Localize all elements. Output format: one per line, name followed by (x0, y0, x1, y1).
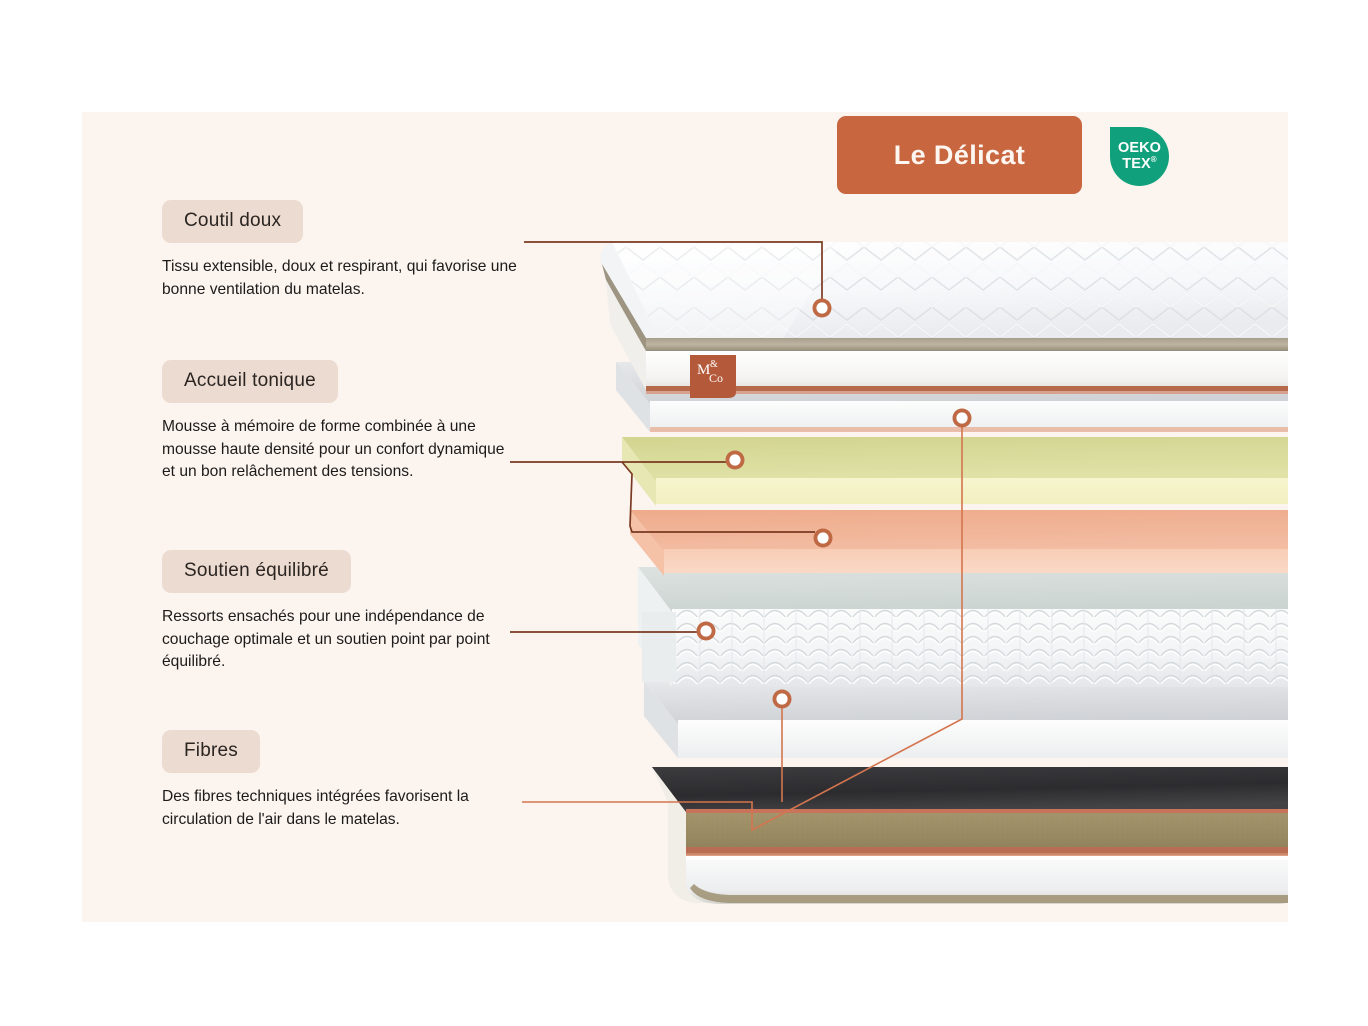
feature-pill-fibres: Fibres (162, 730, 260, 773)
marker-springs (697, 622, 716, 641)
feature-description-coutil: Tissu extensible, doux et respirant, qui… (162, 256, 517, 301)
connector-coutil (524, 242, 822, 304)
product-name-badge: Le Délicat (837, 116, 1082, 194)
connector-fibres (522, 412, 962, 830)
oeko-tex-certification-badge: OEKO TEX® (1110, 127, 1169, 186)
feature-block-coutil: Coutil doux Tissu extensible, doux et re… (162, 200, 542, 301)
marker-memory-foam (726, 451, 745, 470)
feature-block-accueil: Accueil tonique Mousse à mémoire de form… (162, 360, 542, 484)
infographic-card: M & Co (82, 112, 1288, 922)
connector-accueil-branch (622, 462, 815, 532)
registered-mark-icon: ® (1151, 155, 1157, 164)
product-name-label: Le Délicat (894, 140, 1026, 171)
marker-hd-foam (814, 529, 833, 548)
feature-pill-accueil: Accueil tonique (162, 360, 338, 403)
feature-pill-coutil: Coutil doux (162, 200, 303, 243)
feature-block-soutien: Soutien équilibré Ressorts ensachés pour… (162, 550, 542, 674)
feature-description-fibres: Des fibres techniques intégrées favorise… (162, 786, 517, 831)
feature-description-accueil: Mousse à mémoire de forme combinée à une… (162, 416, 517, 484)
feature-pill-soutien: Soutien équilibré (162, 550, 351, 593)
marker-upper-cover (953, 409, 972, 428)
feature-block-fibres: Fibres Des fibres techniques intégrées f… (162, 730, 542, 831)
feature-description-soutien: Ressorts ensachés pour une indépendance … (162, 606, 517, 674)
marker-fibres (773, 690, 792, 709)
marker-coutil (813, 299, 832, 318)
oeko-tex-line2: TEX® (1122, 156, 1157, 172)
oeko-tex-line1: OEKO (1118, 141, 1161, 156)
